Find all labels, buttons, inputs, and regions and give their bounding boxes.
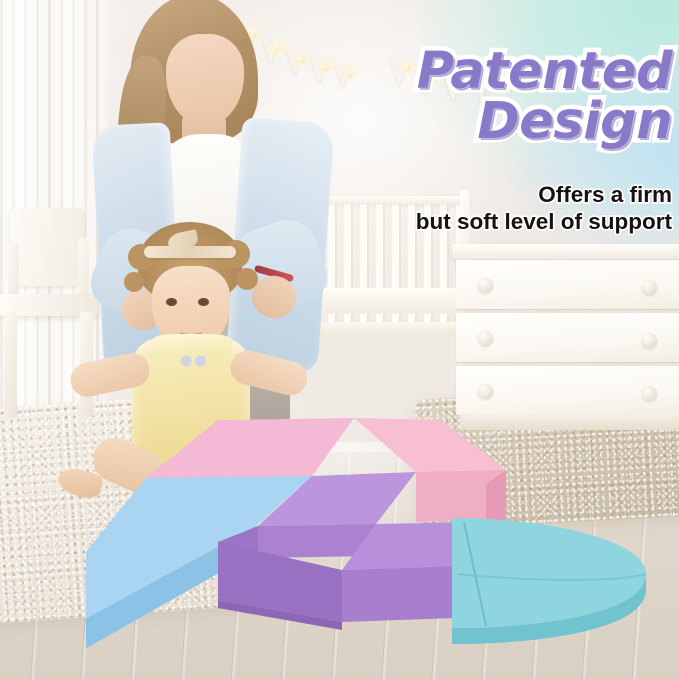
toddler-dress-motif: [176, 352, 210, 370]
headline-line-2: Design: [368, 98, 672, 146]
dresser-drawer: [456, 260, 679, 310]
pink-upper-step-top: [354, 418, 506, 472]
drawer-knob-icon: [642, 333, 657, 348]
toddler-hair-curl: [124, 272, 144, 292]
drawer-knob-icon: [642, 386, 657, 401]
drawer-knob-icon: [478, 331, 493, 346]
subtitle: Offers a firm but soft level of support: [352, 182, 672, 235]
toddler-eye-left: [166, 298, 177, 306]
chair-leg: [4, 312, 17, 417]
toddler-hair-curl: [236, 268, 258, 290]
toddler-eye-right: [198, 298, 209, 306]
drawer-knob-icon: [478, 278, 493, 293]
string-light-bulb-icon: [346, 70, 353, 77]
dresser-top-surface: [452, 244, 679, 259]
crib-mattress: [312, 288, 462, 314]
dresser-drawer: [456, 366, 679, 416]
drawer-knob-icon: [642, 280, 657, 295]
subtitle-line-1: Offers a firm: [352, 182, 672, 209]
subtitle-line-2: but soft level of support: [352, 209, 672, 236]
headline-line-1: Patented: [368, 48, 672, 96]
advertisement-image: Patented Design Offers a firm but soft l…: [0, 0, 679, 679]
pink-top-platform: [146, 418, 354, 478]
white-dresser: [452, 244, 679, 430]
headline: Patented Design: [368, 48, 672, 146]
foam-climbing-play-set: [86, 414, 679, 666]
drawer-knob-icon: [478, 384, 493, 399]
purple-lower-step-front: [342, 566, 456, 622]
dresser-drawer: [456, 313, 679, 363]
foam-set-shapes: [86, 414, 679, 666]
